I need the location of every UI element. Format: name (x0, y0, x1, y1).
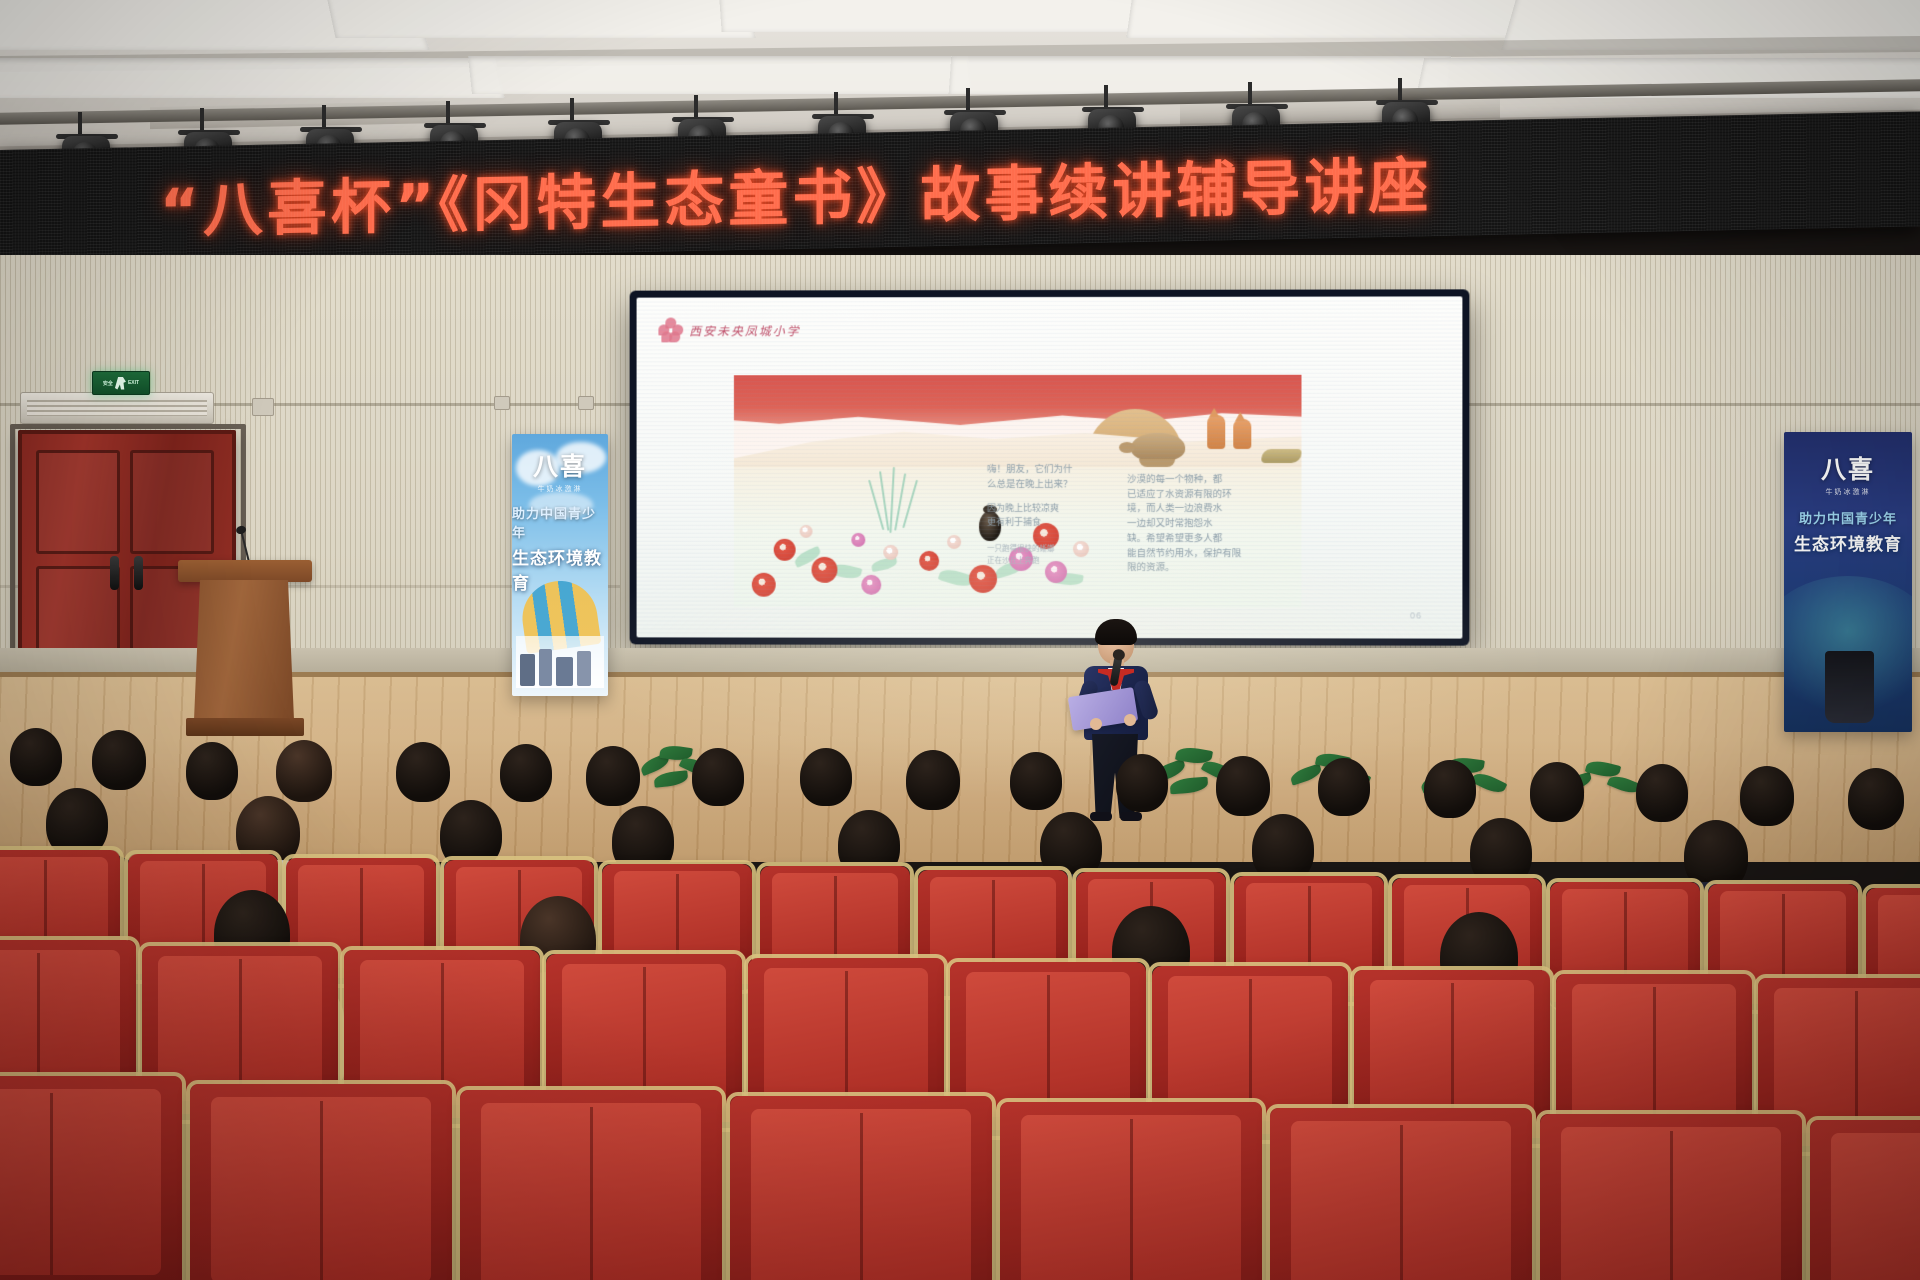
school-logo: 西安未央凤城小学 (658, 317, 800, 343)
audience-head (1216, 756, 1270, 816)
standee-left-line1: 助力中国青少年 (512, 503, 608, 541)
rollup-banner-left: 八喜 牛奶冰激淋 助力中国青少年 生态环境教育 (512, 434, 608, 696)
brand-logo-right: 八喜 (1821, 450, 1875, 486)
wall-socket-left (494, 396, 510, 410)
exit-sign-en: EXIT (128, 380, 139, 386)
audience-head (1530, 762, 1584, 822)
slide-page-number: 06 (1410, 610, 1422, 620)
rollup-banner-right: 八喜 牛奶冰激淋 助力中国青少年 生态环境教育 (1784, 432, 1912, 732)
audience-area (0, 700, 1920, 1280)
pink-flower (861, 575, 881, 595)
pale-flower (883, 545, 898, 560)
auditorium-seat[interactable] (0, 1076, 182, 1280)
audience-head (1010, 752, 1062, 810)
exit-sign: 安全 EXIT (92, 371, 150, 395)
brand-sub-left: 牛奶冰激淋 (538, 484, 583, 494)
audience-head (1636, 764, 1688, 822)
poppy-flower (919, 551, 939, 571)
audience-head (92, 730, 146, 790)
poppy-flower (969, 565, 997, 593)
fox-illustration (1207, 415, 1225, 449)
lizard-illustration (1261, 449, 1301, 463)
audience-head (1318, 758, 1370, 816)
door-handle-right[interactable] (134, 556, 143, 590)
slide-question: 嗨！朋友，它们为什 么总是在晚上出来？ (987, 463, 1109, 492)
poppy-flower (812, 557, 838, 583)
audience-head (1740, 766, 1794, 826)
door-handle-left[interactable] (110, 556, 119, 590)
audience-head (1116, 754, 1168, 812)
fox-illustration-2 (1233, 419, 1251, 449)
audience-head (800, 748, 852, 806)
audience-head (906, 750, 960, 810)
slide-paragraph: 沙漠的每一个物种，都 已适应了水资源有限的环 境，而人类一边浪费水 一边却又时常… (1127, 473, 1245, 576)
slide-answer: 因为晚上比较凉爽 更有利于捕食 (987, 503, 1109, 531)
audience-head (692, 748, 744, 806)
audience-head (1424, 760, 1476, 818)
audience-head (396, 742, 450, 802)
poppy-flower (752, 573, 776, 597)
pale-flower (947, 535, 961, 549)
plum-blossom-icon (658, 317, 682, 343)
brand-logo-left: 八喜 (533, 447, 587, 483)
led-banner-text: “八喜杯”《冈特生态童书》故事续讲辅导讲座 (66, 135, 1526, 251)
school-name: 西安未央凤城小学 (689, 322, 800, 339)
auditorium-scene: “八喜杯”《冈特生态童书》故事续讲辅导讲座 安全 EXIT (0, 0, 1920, 1280)
standee-right-line2: 生态环境教育 (1794, 530, 1902, 555)
brand-sub-right: 牛奶冰激淋 (1826, 487, 1871, 497)
student-hair (1095, 619, 1137, 645)
exit-sign-cn: 安全 (103, 380, 113, 387)
slide-caption: 一只跑得很快的蜥螂 正在沙丘上奔跑 (987, 543, 1095, 566)
wall-socket-right (578, 396, 594, 410)
running-man-icon (115, 377, 126, 390)
audience-head (10, 728, 62, 786)
auditorium-seat[interactable] (1270, 1108, 1532, 1280)
audience-head (586, 746, 640, 806)
auditorium-seat[interactable] (190, 1084, 452, 1280)
projection-screen: 西安未央凤城小学 (630, 289, 1470, 645)
wall-sensor-box (252, 398, 274, 416)
audience-head (186, 742, 238, 800)
audience-head (1848, 768, 1904, 830)
pale-flower (800, 525, 813, 538)
auditorium-seat[interactable] (460, 1090, 722, 1280)
tortoise-illustration (1131, 433, 1185, 461)
wall-ac-unit (20, 392, 214, 424)
auditorium-seat[interactable] (1810, 1120, 1920, 1280)
standee-right-line1: 助力中国青少年 (1799, 508, 1897, 527)
auditorium-seat[interactable] (1540, 1114, 1802, 1280)
auditorium-seat[interactable] (730, 1096, 992, 1280)
poppy-flower (774, 539, 796, 561)
audience-head (276, 740, 332, 802)
pink-flower (851, 533, 865, 547)
audience-head (500, 744, 552, 802)
auditorium-seat[interactable] (1000, 1102, 1262, 1280)
slide-surface: 西安未央凤城小学 (637, 296, 1463, 638)
